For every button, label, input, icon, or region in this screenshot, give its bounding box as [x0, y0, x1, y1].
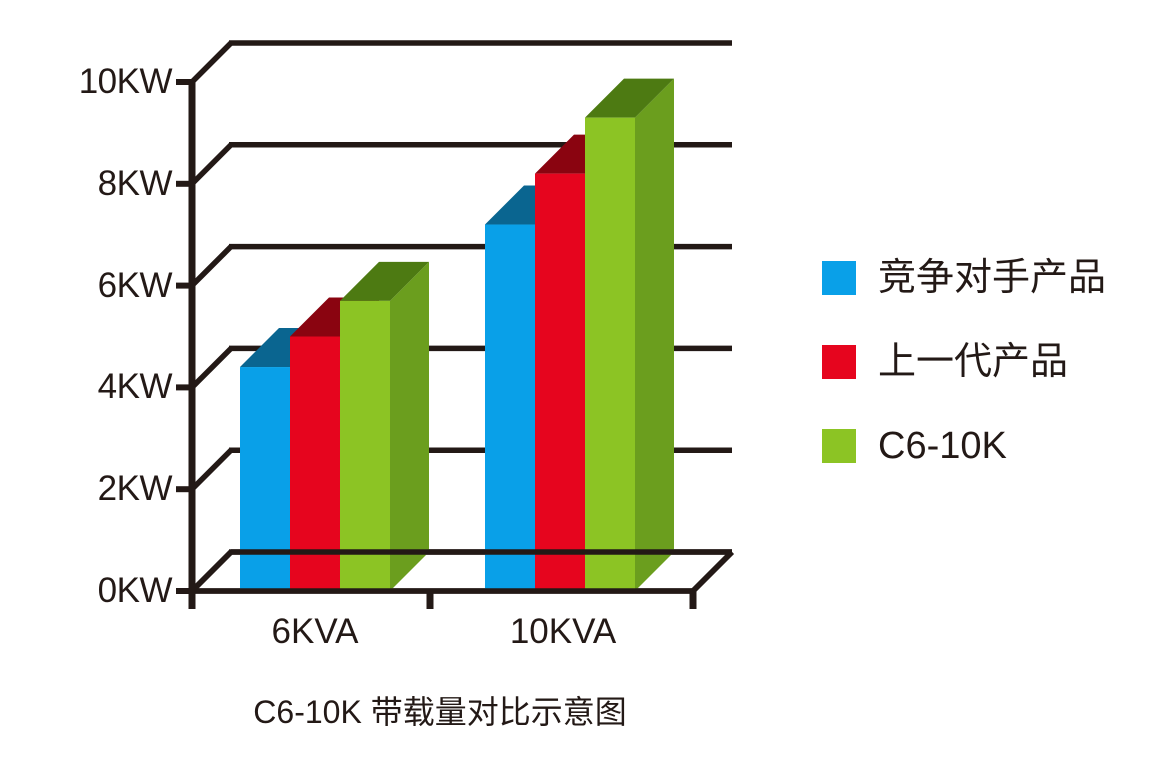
legend-item[interactable]: C6-10K [822, 404, 1162, 488]
grid-depth-connector [192, 43, 231, 82]
legend-item[interactable]: 上一代产品 [822, 320, 1162, 404]
bar-front-face [535, 174, 585, 591]
legend-swatch-icon [822, 345, 856, 379]
bar-front-face [485, 225, 535, 591]
floor-right-depth-edge-overlay [693, 552, 732, 591]
chart-title: C6-10K 带载量对比示意图 [110, 692, 770, 732]
bar-side-face [390, 262, 429, 591]
y-axis-tick-label: 8KW [32, 166, 172, 201]
bar-side-face [635, 79, 674, 591]
grid-depth-connector [192, 247, 231, 286]
bar-10KVA-C6-10K [585, 79, 674, 591]
grid-depth-connector [192, 450, 231, 489]
bar-front-face [585, 118, 635, 591]
grid-depth-connector [192, 145, 231, 184]
legend-swatch-icon [822, 261, 856, 295]
legend-label: 上一代产品 [878, 342, 1068, 382]
bar-6KVA-C6-10K [340, 262, 429, 591]
y-axis-tick-label: 10KW [32, 64, 172, 99]
x-axis-category-label: 6KVA [205, 612, 425, 652]
chart-container: 0KW2KW4KW6KW8KW10KW 6KVA10KVA C6-10K 带载量… [0, 0, 1170, 762]
floor-left-depth-edge [192, 552, 231, 591]
x-axis-category-label: 10KVA [453, 612, 673, 652]
grid-depth-connector [192, 348, 231, 387]
y-axis-tick-label: 4KW [32, 369, 172, 404]
legend-label: C6-10K [878, 426, 1007, 466]
y-axis-tick-label: 6KW [32, 268, 172, 303]
legend-swatch-icon [822, 429, 856, 463]
legend-label: 竞争对手产品 [878, 258, 1106, 298]
legend-item[interactable]: 竞争对手产品 [822, 236, 1162, 320]
y-axis-tick-label: 0KW [32, 573, 172, 608]
bar-front-face [240, 367, 290, 591]
chart-legend: 竞争对手产品上一代产品C6-10K [822, 236, 1162, 488]
y-axis-tick-label: 2KW [32, 471, 172, 506]
bar-front-face [340, 301, 390, 591]
